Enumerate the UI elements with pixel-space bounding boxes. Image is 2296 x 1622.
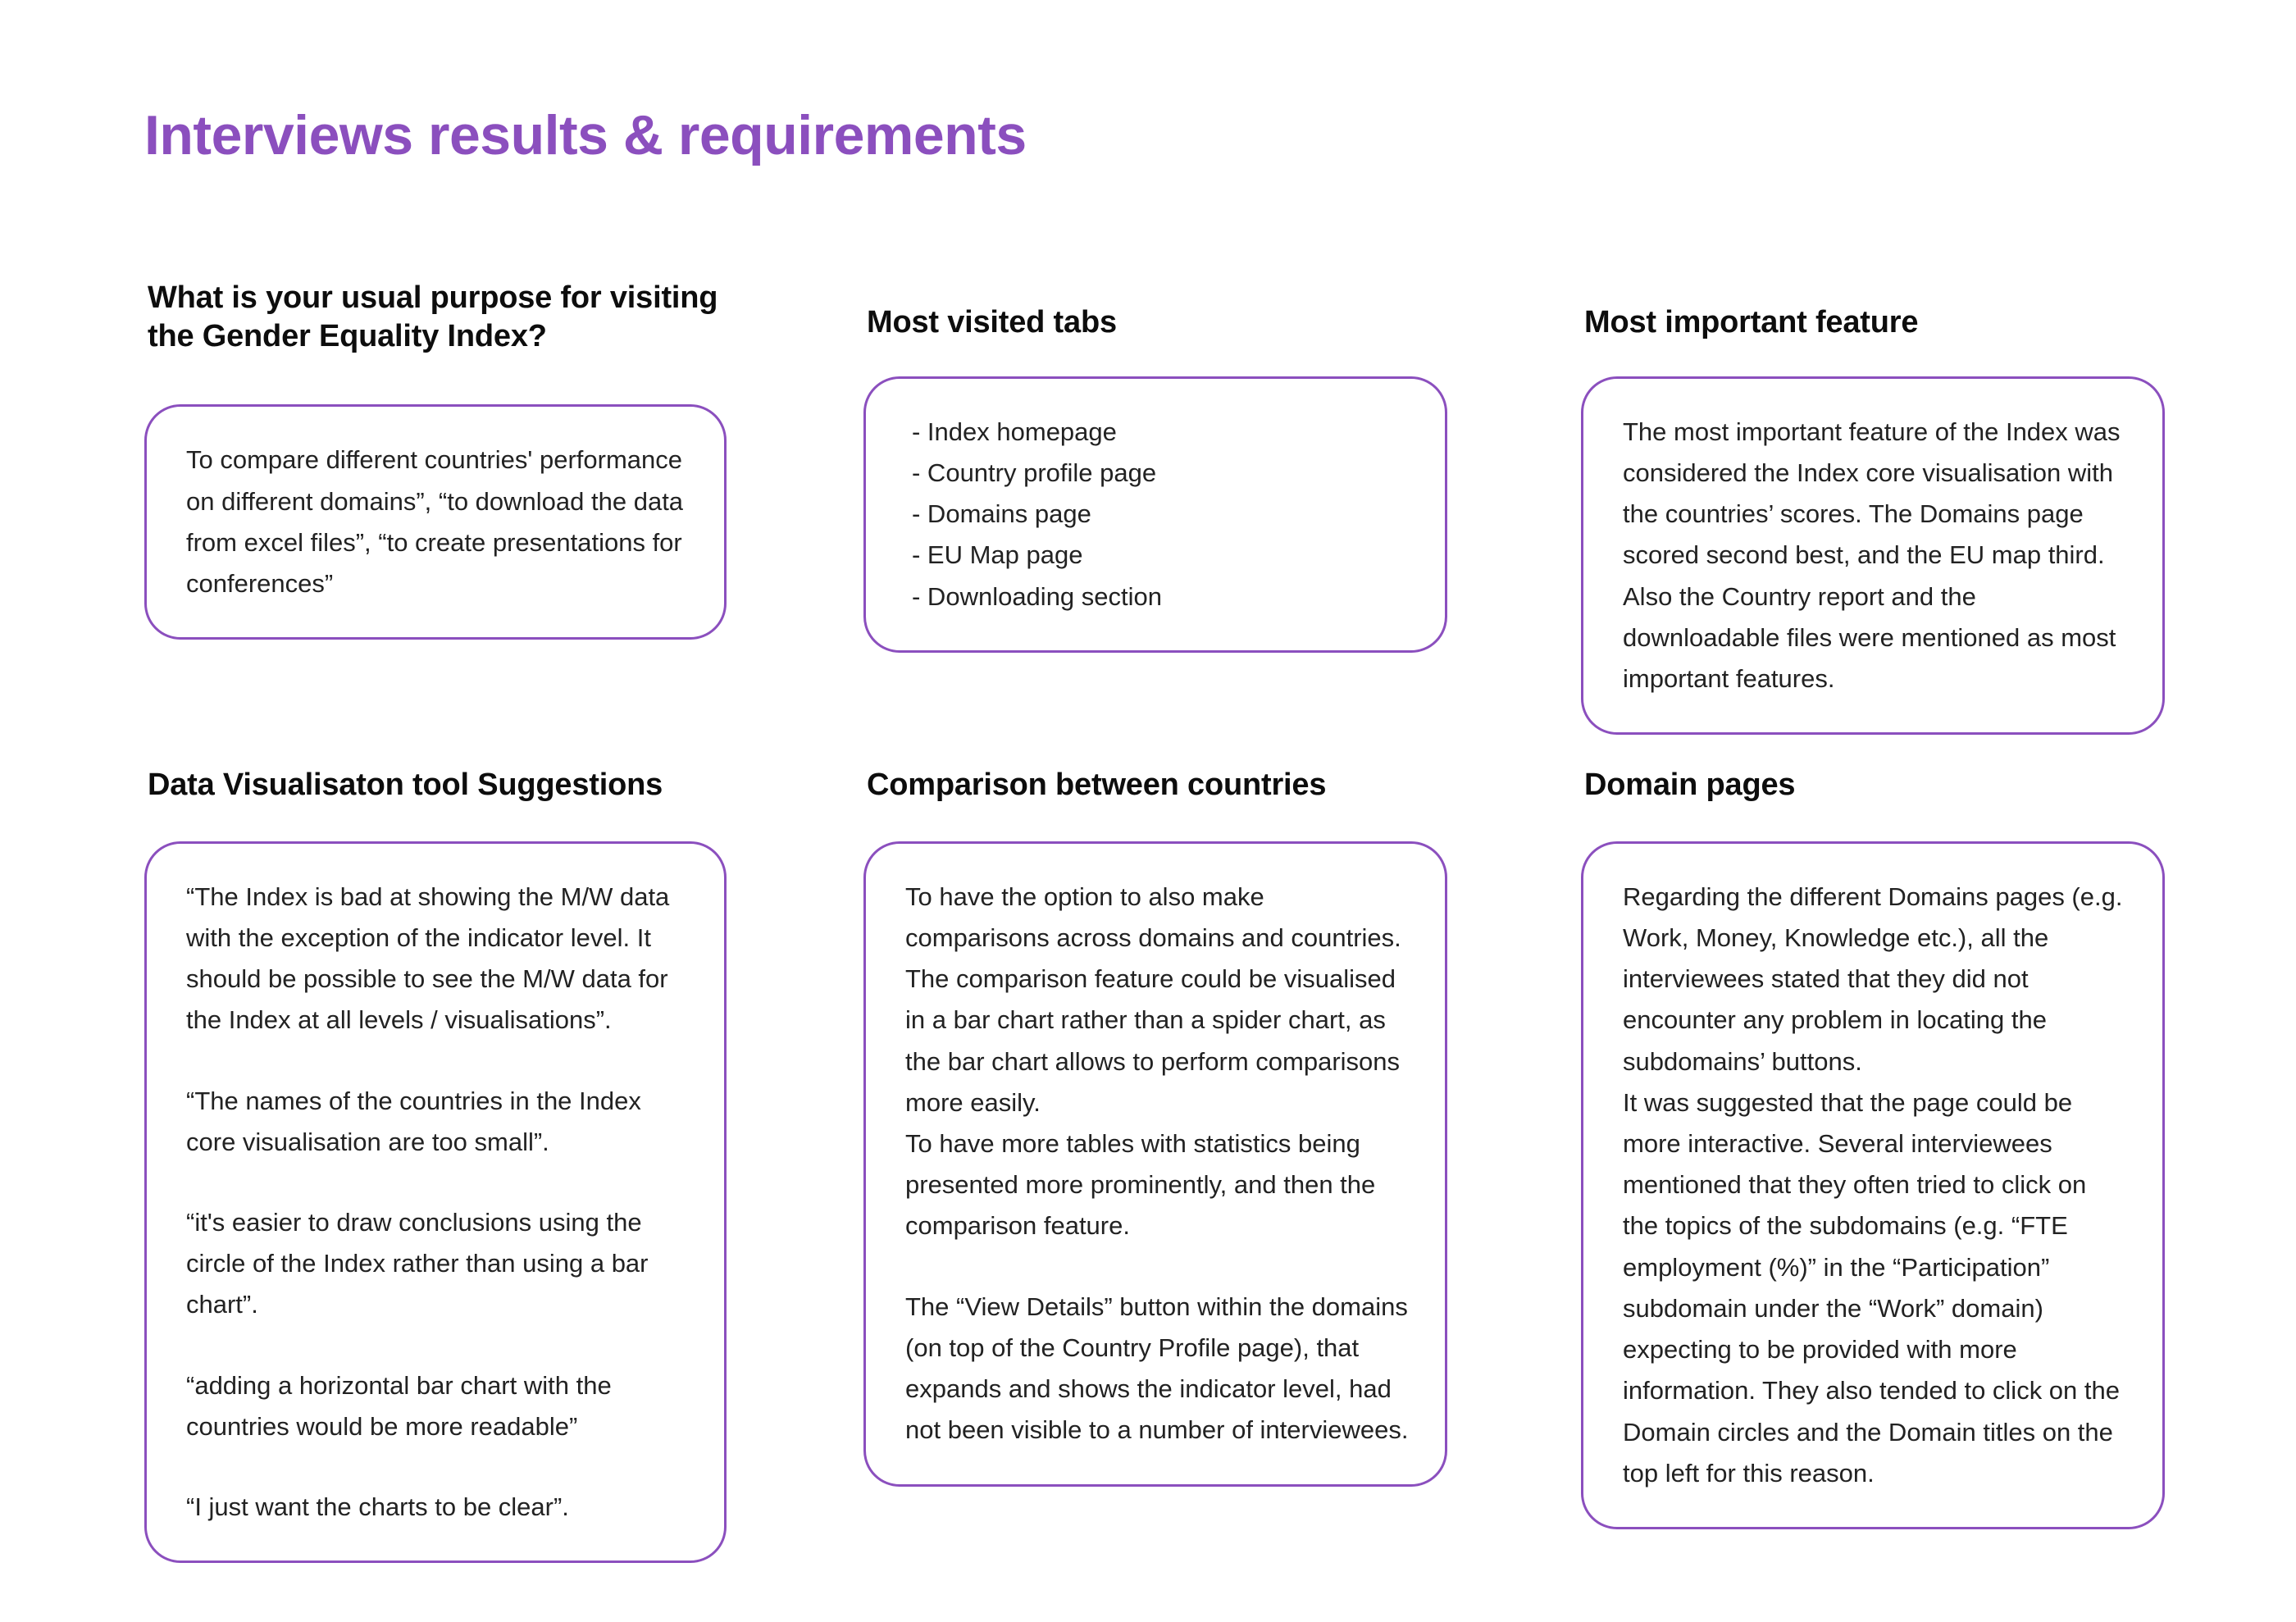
card-body-most-important-feature: The most important feature of the Index … [1623, 412, 2126, 700]
card-body-dataviz-suggestions: “The Index is bad at showing the M/W dat… [186, 877, 688, 1529]
card-domain-pages: Regarding the different Domains pages (e… [1581, 841, 2165, 1529]
section-heading-most-important-feature: Most important feature [1584, 303, 2165, 342]
list-item: - EU Map page [912, 535, 1409, 576]
card-most-important-feature: The most important feature of the Index … [1581, 376, 2165, 736]
quote: “The names of the countries in the Index… [186, 1081, 688, 1163]
quote: “I just want the charts to be clear”. [186, 1487, 688, 1528]
section-purpose: What is your usual purpose for visiting … [144, 279, 727, 640]
quote: “The Index is bad at showing the M/W dat… [186, 877, 688, 1041]
section-most-important-feature: Most important feature The most importan… [1581, 303, 2165, 735]
purpose-text: To compare different countries' performa… [186, 440, 688, 604]
card-comparison-between-countries: To have the option to also make comparis… [863, 841, 1447, 1487]
card-body-purpose: To compare different countries' performa… [186, 440, 688, 604]
quote: “it's easier to draw conclusions using t… [186, 1202, 688, 1326]
feature-text: The most important feature of the Index … [1623, 412, 2126, 700]
section-heading-purpose: What is your usual purpose for visiting … [148, 279, 727, 355]
list-item: - Index homepage [912, 412, 1409, 453]
section-most-visited-tabs: Most visited tabs - Index homepage - Cou… [863, 303, 1447, 653]
card-most-visited-tabs: - Index homepage - Country profile page … [863, 376, 1447, 653]
section-domain-pages: Domain pages Regarding the different Dom… [1581, 766, 2165, 1529]
paragraph: To have more tables with statistics bein… [905, 1123, 1409, 1247]
list-item: - Domains page [912, 494, 1409, 535]
section-comparison-between-countries: Comparison between countries To have the… [863, 766, 1447, 1487]
paragraph: Regarding the different Domains pages (e… [1623, 877, 2126, 1082]
list-item: - Country profile page [912, 453, 1409, 494]
list-item: - Downloading section [912, 576, 1409, 617]
card-body-domain-pages: Regarding the different Domains pages (e… [1623, 877, 2126, 1494]
page-title: Interviews results & requirements [144, 105, 1027, 166]
section-heading-domain-pages: Domain pages [1584, 766, 2165, 804]
paragraph: To have the option to also make comparis… [905, 877, 1409, 1123]
quote: “adding a horizontal bar chart with the … [186, 1365, 688, 1447]
section-heading-most-visited-tabs: Most visited tabs [867, 303, 1447, 342]
section-heading-dataviz-suggestions: Data Visualisaton tool Suggestions [148, 766, 727, 804]
paragraph: It was suggested that the page could be … [1623, 1082, 2126, 1494]
card-purpose: To compare different countries' performa… [144, 404, 727, 640]
section-heading-comparison-between-countries: Comparison between countries [867, 766, 1447, 804]
card-body-comparison-between-countries: To have the option to also make comparis… [905, 877, 1409, 1451]
section-dataviz-suggestions: Data Visualisaton tool Suggestions “The … [144, 766, 727, 1563]
paragraph: The “View Details” button within the dom… [905, 1287, 1409, 1451]
card-dataviz-suggestions: “The Index is bad at showing the M/W dat… [144, 841, 727, 1564]
most-visited-tabs-list: - Index homepage - Country profile page … [912, 412, 1409, 617]
